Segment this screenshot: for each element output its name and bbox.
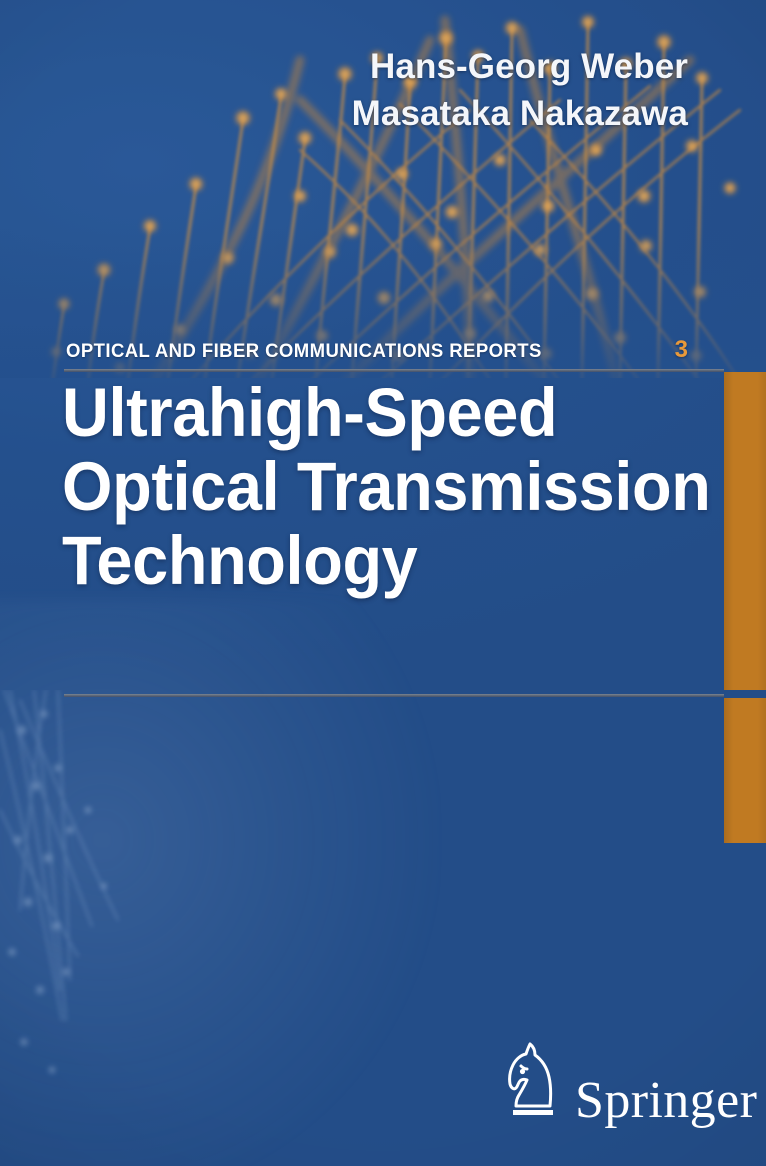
- series-line: OPTICAL AND FIBER COMMUNICATIONS REPORTS…: [66, 336, 724, 364]
- author-name-1: Hans-Georg Weber: [352, 44, 688, 91]
- divider-rule-upper: [64, 369, 724, 372]
- book-title-line-3: Technology: [62, 524, 692, 598]
- authors-block: Hans-Georg Weber Masataka Nakazawa: [352, 44, 688, 137]
- divider-rule-lower: [64, 694, 724, 697]
- book-title-line-2: Optical Transmission: [62, 450, 692, 524]
- book-title: Ultrahigh-Speed Optical Transmission Tec…: [62, 376, 692, 597]
- book-cover: Hans-Georg Weber Masataka Nakazawa OPTIC…: [0, 0, 766, 1166]
- springer-wordmark: Springer: [575, 1077, 757, 1125]
- accent-panel-upper: [724, 372, 766, 690]
- author-name-2: Masataka Nakazawa: [352, 91, 688, 138]
- fiber-artwork-bottom-left: [0, 690, 230, 1166]
- book-title-line-1: Ultrahigh-Speed: [62, 376, 692, 450]
- springer-knight-icon: [505, 1038, 561, 1125]
- series-title: OPTICAL AND FIBER COMMUNICATIONS REPORTS: [66, 340, 542, 363]
- accent-panel-lower: [724, 698, 766, 843]
- publisher-logo: Springer: [505, 1038, 757, 1125]
- series-number: 3: [675, 336, 688, 364]
